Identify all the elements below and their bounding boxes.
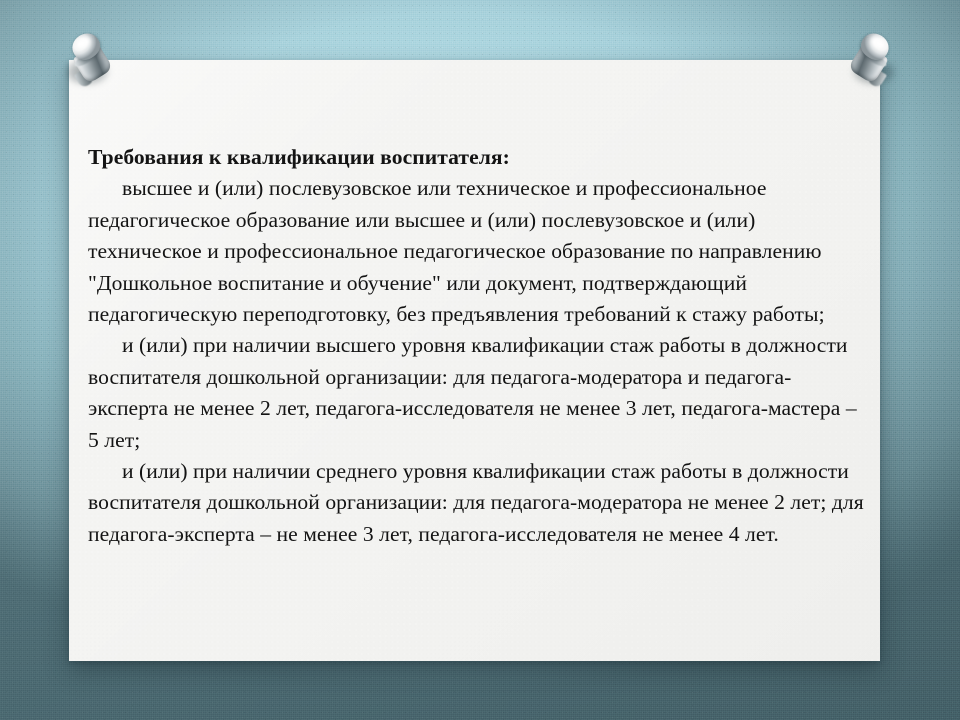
paragraph-middle-level-experience: и (или) при наличии среднего уровня квал… [88,456,866,550]
slide-canvas: Требования к квалификации воспитателя: в… [0,0,960,720]
paragraph-higher-level-experience: и (или) при наличии высшего уровня квали… [88,330,866,456]
page-title: Требования к квалификации воспитателя: [88,142,866,173]
push-pin-right-icon [845,28,901,94]
push-pin-left-icon [60,28,116,94]
paper-sheet: Требования к квалификации воспитателя: в… [69,60,880,661]
document-body: Требования к квалификации воспитателя: в… [88,142,866,550]
paragraph-qualification-education: высшее и (или) послевузовское или технич… [88,173,866,330]
